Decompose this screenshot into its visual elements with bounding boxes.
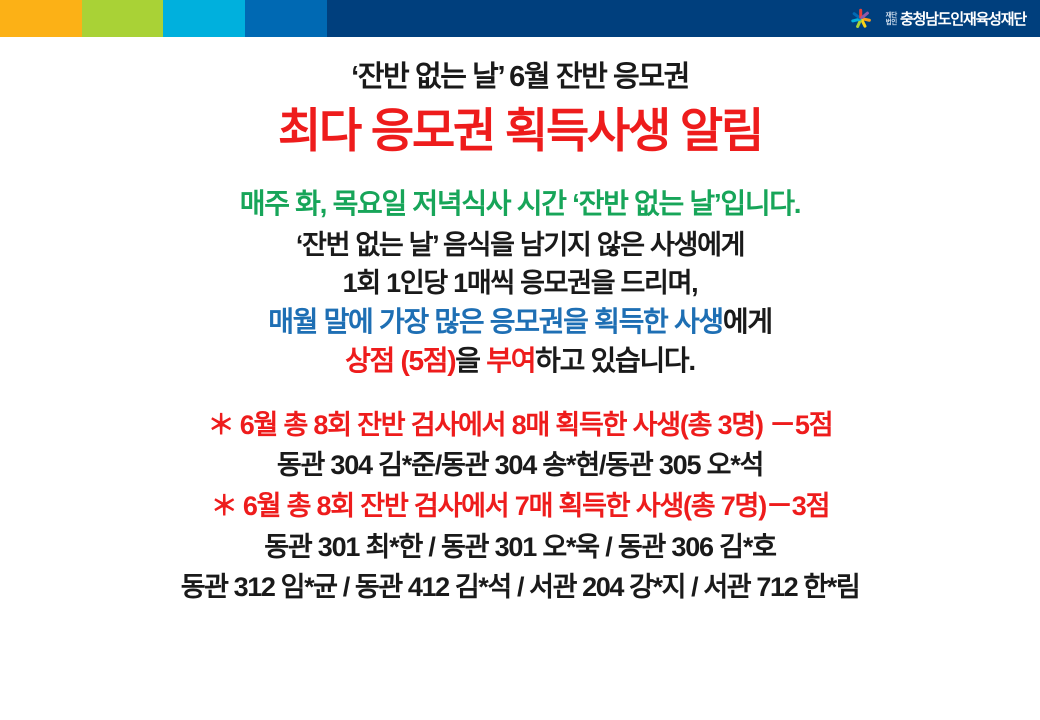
logo-text: 재단 법인 충청남도인재육성재단 — [886, 8, 1026, 29]
logo-prefix-line-2: 법인 — [886, 19, 897, 26]
header-color-band-green — [82, 0, 163, 37]
notice-score-line: 상점 (5점)을 부여하고 있습니다. — [0, 347, 1040, 375]
notice-body: ‘잔반 없는 날’ 6월 잔반 응모권 최다 응모권 획득사생 알림 매주 화,… — [0, 37, 1040, 720]
notice-blue-tail: 에게 — [723, 306, 772, 337]
award-names-7-tickets-row-1: 동관 301 최*한 / 동관 301 오*욱 / 동관 306 김*호 — [0, 534, 1040, 561]
award-heading-7-tickets: ＊ 6월 총 8회 잔반 검사에서 7매 획득한 사생(총 7명)－3점 — [0, 493, 1040, 520]
award-names-7-tickets-row-2: 동관 312 임*균 / 동관 412 김*석 / 서관 204 강*지 / 서… — [0, 574, 1040, 601]
pinwheel-emblem-icon — [852, 5, 880, 33]
award-names-8-tickets: 동관 304 김*준/동관 304 송*현/동관 305 오*석 — [0, 452, 1040, 479]
header-color-band-blue — [245, 0, 327, 37]
notice-body-line-1: ‘잔번 없는 날’ 음식을 남기지 않은 사생에게 — [0, 232, 1040, 259]
notice-score-points: 상점 (5점) — [345, 345, 455, 376]
notice-score-particle: 을 — [455, 345, 486, 376]
header-color-band-cyan — [163, 0, 245, 37]
notice-score-award-verb: 부여 — [486, 345, 535, 376]
notice-blue-emphasis: 매월 말에 가장 많은 응모권을 획득한 사생 — [268, 306, 723, 337]
header-color-band-navy: 재단 법인 충청남도인재육성재단 — [327, 0, 1040, 37]
notice-green-line: 매주 화, 목요일 저녁식사 시간 ‘잔반 없는 날’입니다. — [0, 190, 1040, 218]
header-color-band-orange — [0, 0, 82, 37]
notice-body-line-2: 1회 1인당 1매씩 응모권을 드리며, — [0, 270, 1040, 297]
page-header-bar: 재단 법인 충청남도인재육성재단 — [0, 0, 1040, 37]
award-heading-8-tickets: ＊ 6월 총 8회 잔반 검사에서 8매 획득한 사생(총 3명) －5점 — [0, 412, 1040, 439]
notice-kicker: ‘잔반 없는 날’ 6월 잔반 응모권 — [0, 63, 1040, 92]
organization-logo: 재단 법인 충청남도인재육성재단 — [852, 5, 1026, 33]
logo-prefix-line-1: 재단 — [886, 12, 897, 19]
logo-organization-name: 충청남도인재육성재단 — [900, 8, 1026, 29]
notice-headline: 최다 응모권 획득사생 알림 — [0, 107, 1040, 154]
notice-score-tail: 하고 있습니다. — [535, 345, 695, 376]
logo-prefix: 재단 법인 — [886, 12, 897, 26]
notice-blue-line: 매월 말에 가장 많은 응모권을 획득한 사생에게 — [0, 308, 1040, 336]
